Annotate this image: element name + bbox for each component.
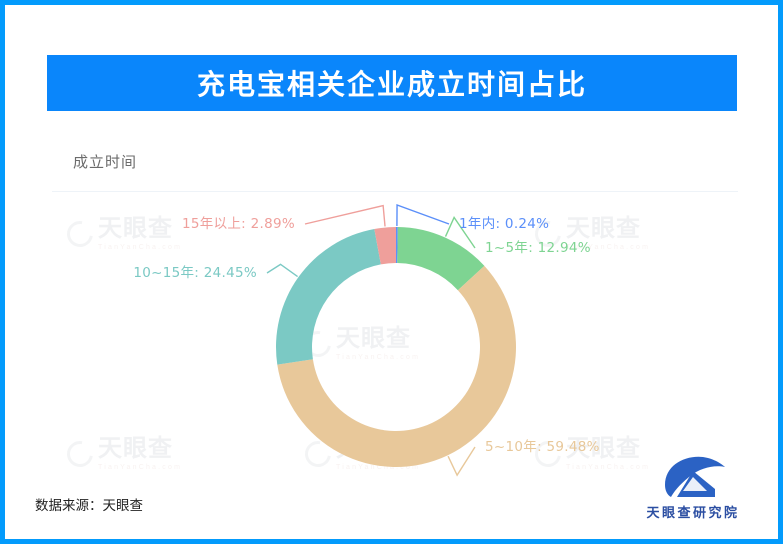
leader-line <box>305 206 385 227</box>
slice-label: 1~5年: 12.94% <box>485 240 591 256</box>
tianyancha-logo-icon <box>659 455 727 499</box>
leader-line <box>267 264 298 276</box>
page-title: 充电宝相关企业成立时间占比 <box>197 63 587 103</box>
chart-subtitle: 成立时间 <box>73 151 137 172</box>
data-source-note: 数据来源：天眼查 <box>35 494 143 514</box>
infographic-page: 天眼查 TianYanCha.com 天眼查 TianYanCha.com 天眼… <box>0 0 783 544</box>
brand-logo-name: 天眼查研究院 <box>646 502 739 521</box>
brand-logo: 天眼查研究院 <box>632 455 754 521</box>
title-banner: 充电宝相关企业成立时间占比 <box>47 55 737 111</box>
donut-chart: 10~15年: 24.45%15年以上: 2.89%1年内: 0.24%1~5年… <box>5 195 783 480</box>
slice-label: 10~15年: 24.45% <box>133 265 257 281</box>
slice-label: 5~10年: 59.48% <box>485 439 600 455</box>
slice-label: 15年以上: 2.89% <box>182 216 295 232</box>
slice-label: 1年内: 0.24% <box>459 216 549 232</box>
donut-slice[interactable] <box>276 229 381 365</box>
donut-slices <box>276 227 516 467</box>
section-divider <box>52 191 738 192</box>
leader-line <box>397 205 449 226</box>
donut-chart-svg: 10~15年: 24.45%15年以上: 2.89%1年内: 0.24%1~5年… <box>5 195 783 480</box>
